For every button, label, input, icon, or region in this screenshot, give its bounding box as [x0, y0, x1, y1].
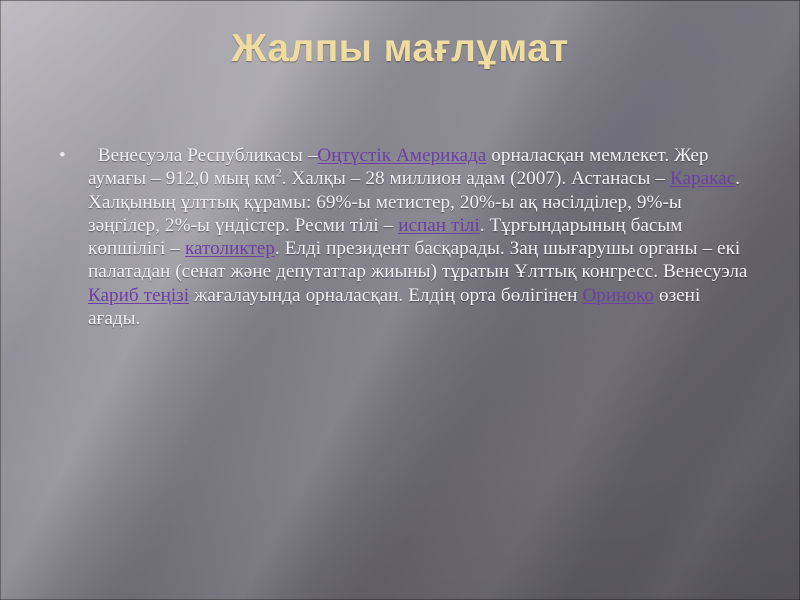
link-catholics[interactable]: католиктер	[185, 238, 275, 259]
link-caracas[interactable]: Каракас	[670, 168, 735, 189]
text-run-7: жағалауында орналасқан. Елдің орта бөліг…	[189, 285, 582, 306]
link-orinoco[interactable]: Ориноко	[582, 285, 654, 306]
slide-title: Жалпы мағлұмат	[0, 26, 800, 72]
bullet-marker: •	[54, 144, 88, 167]
slide-body: • Венесуэла Республикасы –Оңтүстік Амери…	[54, 144, 754, 330]
paragraph-lead-space	[88, 145, 98, 166]
link-spanish-language[interactable]: испан тілі	[398, 215, 479, 236]
text-run-3: . Халқы – 28 миллион адам (2007). Астана…	[282, 168, 670, 189]
body-paragraph: Венесуэла Республикасы –Оңтүстік Америка…	[88, 144, 754, 330]
presentation-slide: Жалпы мағлұмат • Венесуэла Республикасы …	[0, 0, 800, 600]
text-run-1: Венесуэла Республикасы –	[98, 145, 318, 166]
link-caribbean-sea[interactable]: Кариб теңізі	[88, 285, 189, 306]
link-south-america[interactable]: Оңтүстік Америкада	[317, 145, 486, 166]
